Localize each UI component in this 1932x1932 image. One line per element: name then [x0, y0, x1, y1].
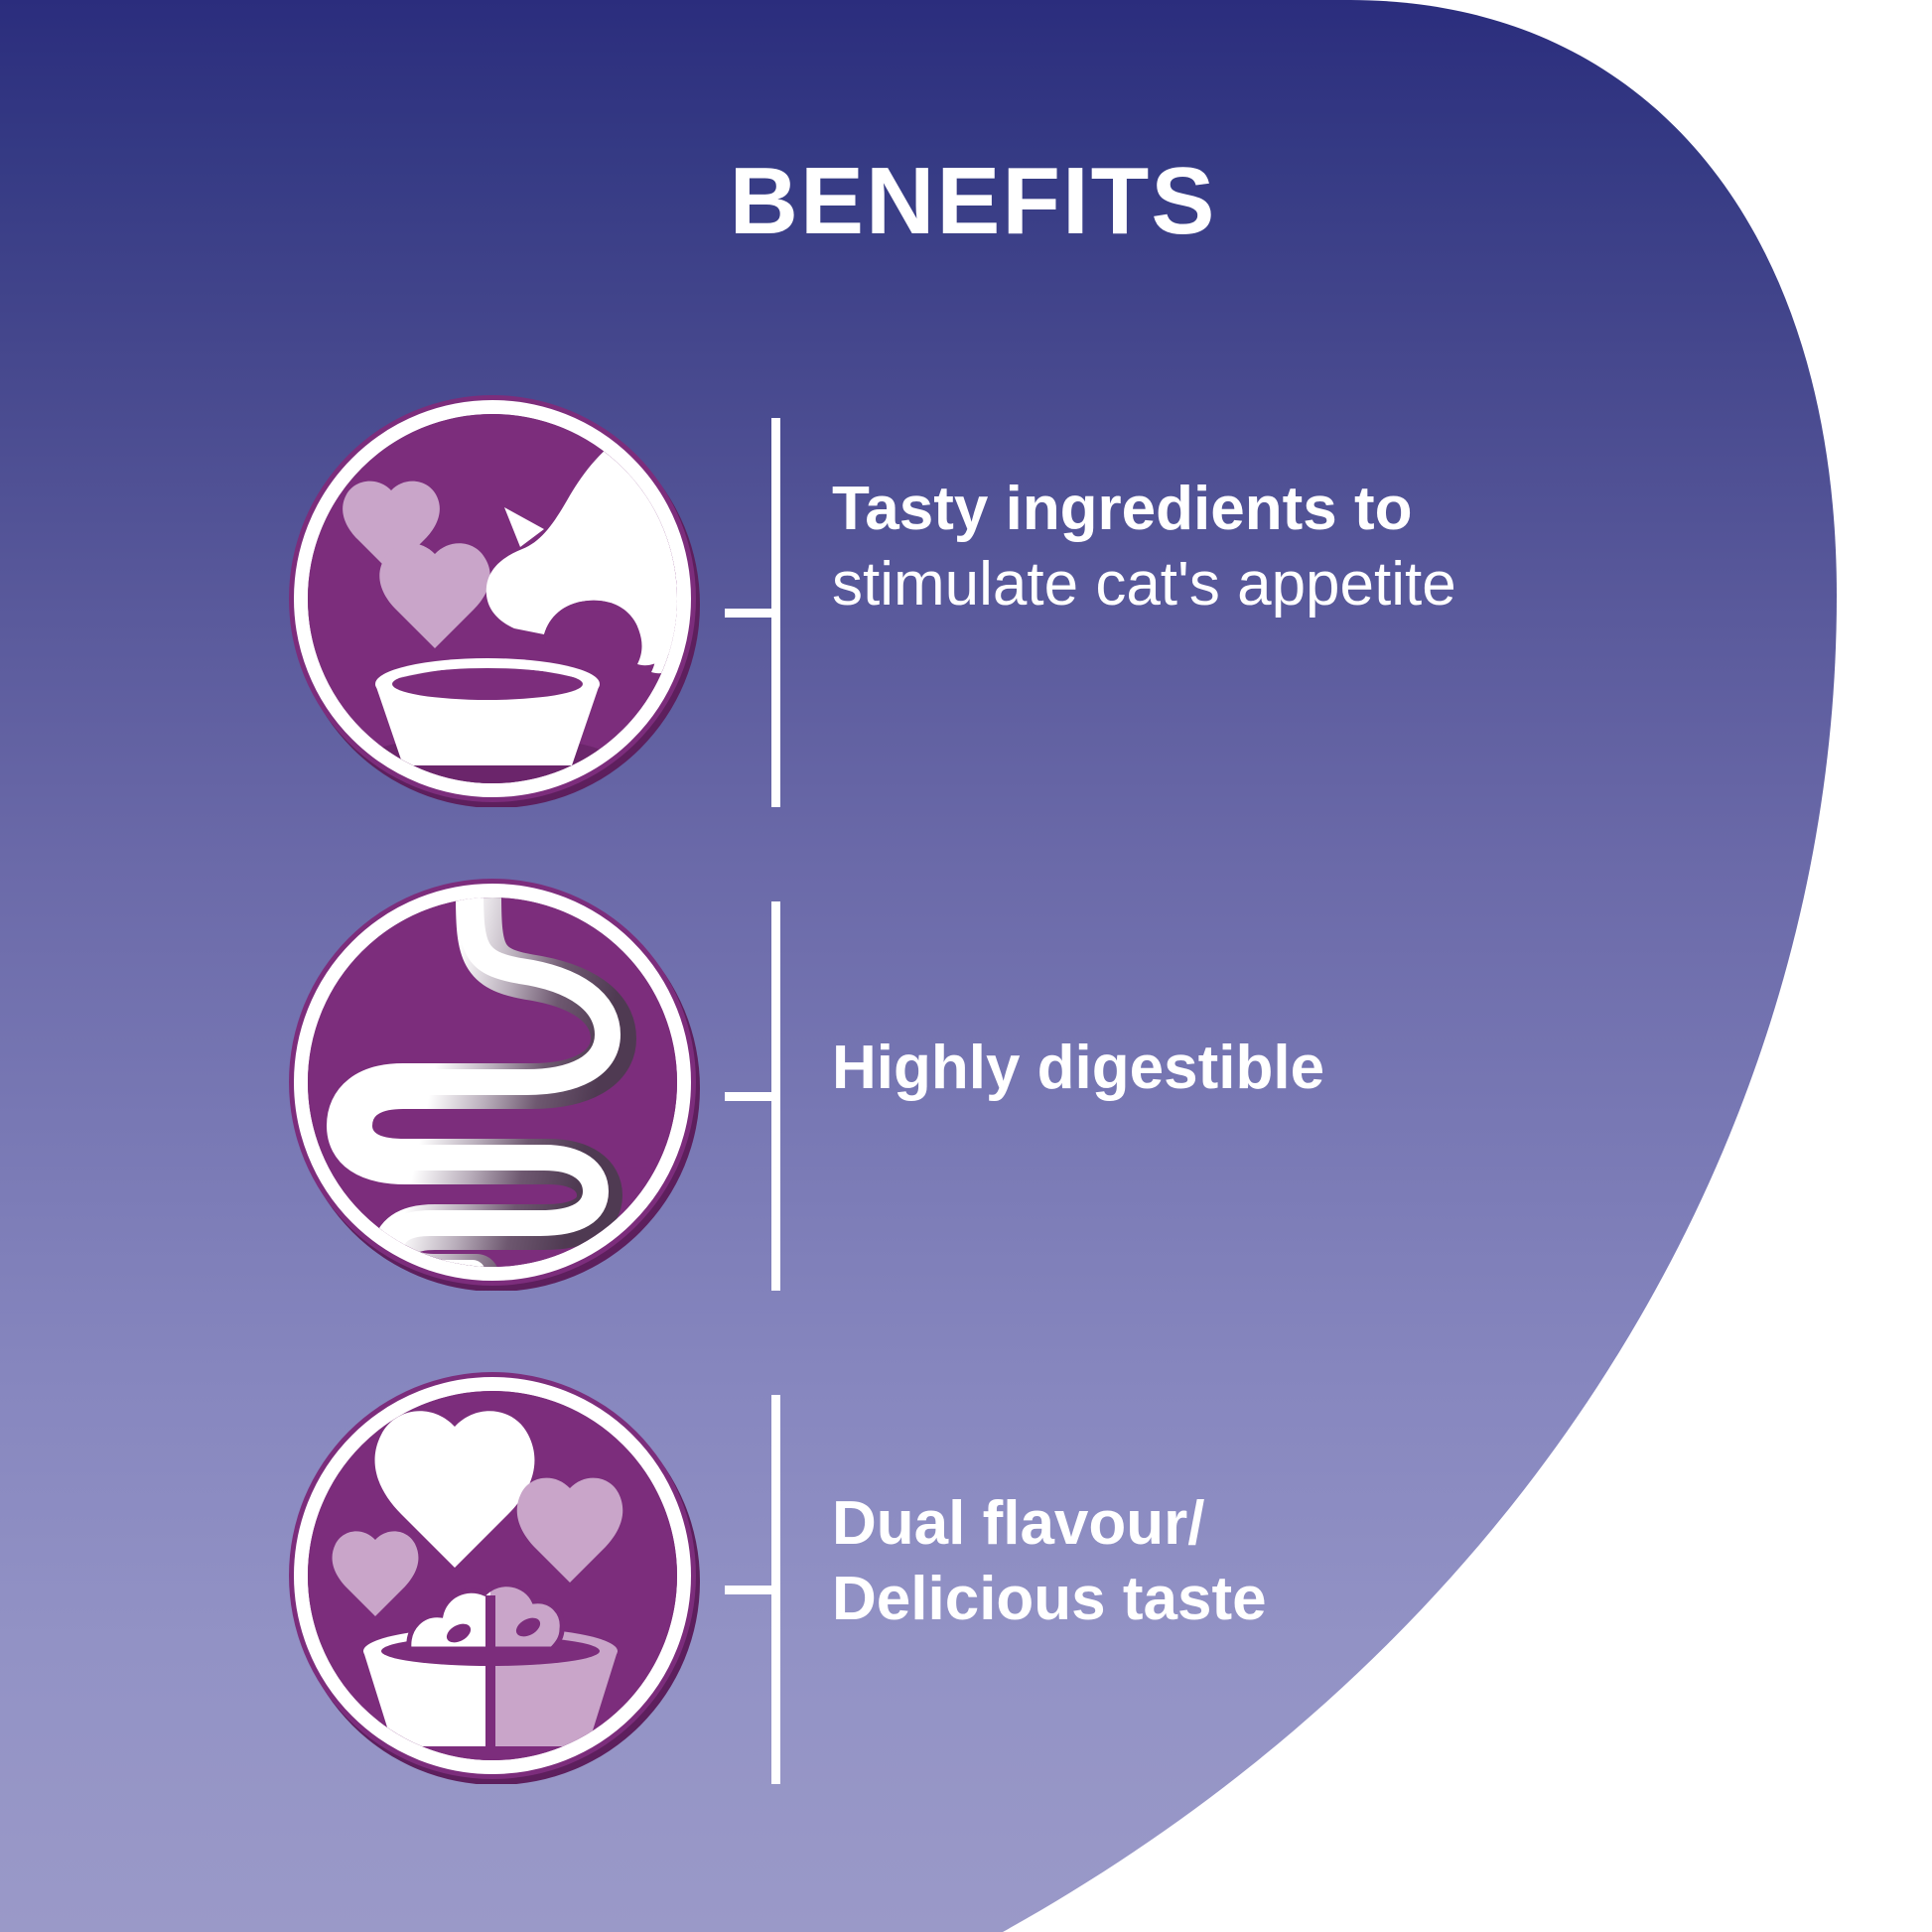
connector-line-2	[725, 901, 780, 1291]
connector-line-1	[725, 418, 780, 807]
benefit-label-1-regular: stimulate cat's appetite	[832, 550, 1456, 619]
benefit-label-3: Dual flavour/ Delicious taste	[832, 1486, 1467, 1636]
benefit-label-3-line2: Delicious taste	[832, 1562, 1467, 1637]
connector-vertical-3	[771, 1395, 780, 1784]
split-bowl-dual-flavour-with-hearts-icon	[284, 1367, 701, 1784]
benefit-item-1: Tasty ingredients to stimulate cat's app…	[0, 390, 1489, 807]
benefit-item-2: Highly digestible	[0, 874, 1489, 1291]
connector-vertical-2	[771, 901, 780, 1291]
benefits-panel: BENEFITS	[0, 0, 1932, 1932]
connector-vertical-1	[771, 418, 780, 807]
intestine-digestive-tract-icon	[284, 874, 701, 1291]
benefit-label-1-bold: Tasty ingredients to	[832, 475, 1413, 543]
benefit-label-2: Highly digestible	[832, 1031, 1467, 1106]
cat-eating-from-bowl-with-hearts-icon	[284, 390, 701, 807]
benefit-label-1: Tasty ingredients to stimulate cat's app…	[832, 472, 1467, 621]
connector-line-3	[725, 1395, 780, 1784]
page-title: BENEFITS	[0, 149, 1932, 254]
benefit-item-3: Dual flavour/ Delicious taste	[0, 1367, 1489, 1784]
benefit-label-3-line1: Dual flavour/	[832, 1486, 1467, 1562]
